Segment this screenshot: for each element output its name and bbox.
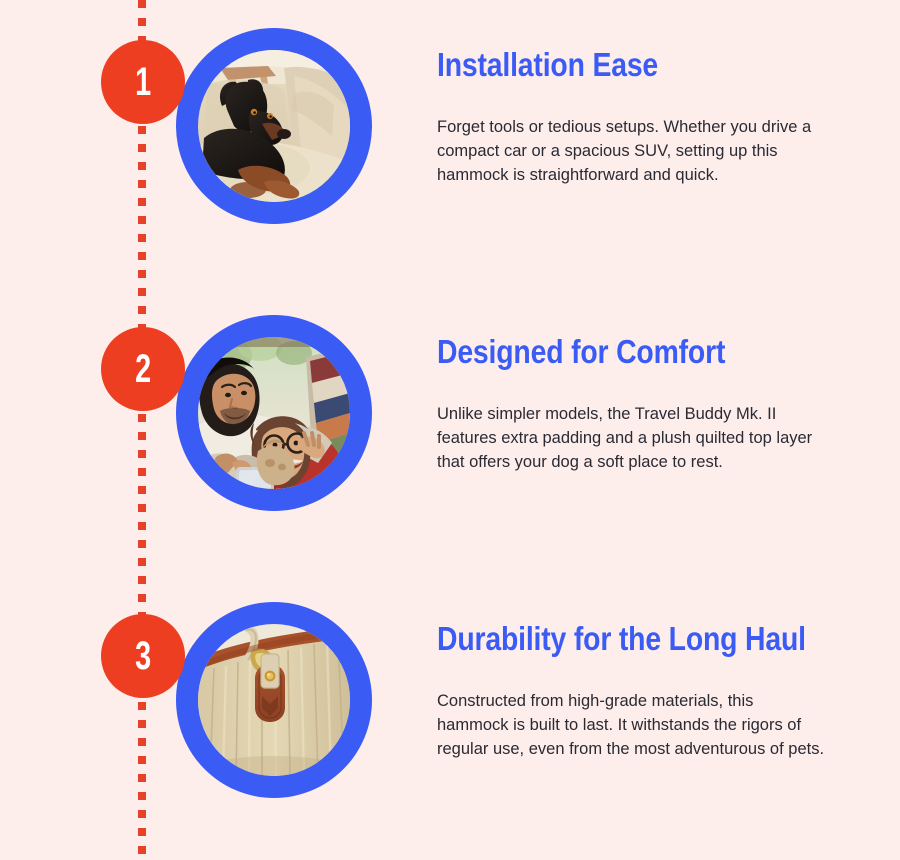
couple-selfie-with-dog-photo-icon: [198, 337, 350, 489]
step-photo-1: [198, 50, 350, 202]
step-number-label-1: 1: [135, 62, 151, 102]
step-photo-ring-1: [176, 28, 372, 224]
step-heading-1: Installation Ease: [437, 48, 781, 83]
step-photo-3: [198, 624, 350, 776]
step-heading-2: Designed for Comfort: [437, 335, 781, 370]
step-item-3: 3: [0, 602, 900, 832]
step-photo-ring-2: [176, 315, 372, 511]
step-text-column-2: Designed for Comfort Unlike simpler mode…: [437, 315, 837, 474]
step-item-2: 2: [0, 315, 900, 545]
step-text-column-3: Durability for the Long Haul Constructed…: [437, 602, 837, 761]
step-body-2: Unlike simpler models, the Travel Buddy …: [437, 402, 829, 474]
step-photo-2: [198, 337, 350, 489]
step-photo-ring-3: [176, 602, 372, 798]
step-number-badge-1: 1: [101, 40, 185, 124]
step-body-1: Forget tools or tedious setups. Whether …: [437, 115, 829, 187]
step-number-label-2: 2: [135, 349, 151, 389]
step-number-badge-2: 2: [101, 327, 185, 411]
dog-in-car-photo-icon: [198, 50, 350, 202]
step-number-label-3: 3: [135, 636, 151, 676]
steps-list: 1: [0, 0, 900, 860]
step-heading-3: Durability for the Long Haul: [437, 622, 781, 657]
step-number-badge-3: 3: [101, 614, 185, 698]
step-item-1: 1: [0, 28, 900, 258]
step-body-3: Constructed from high-grade materials, t…: [437, 689, 829, 761]
hammock-strap-buckle-photo-icon: [198, 624, 350, 776]
step-text-column-1: Installation Ease Forget tools or tediou…: [437, 28, 837, 187]
